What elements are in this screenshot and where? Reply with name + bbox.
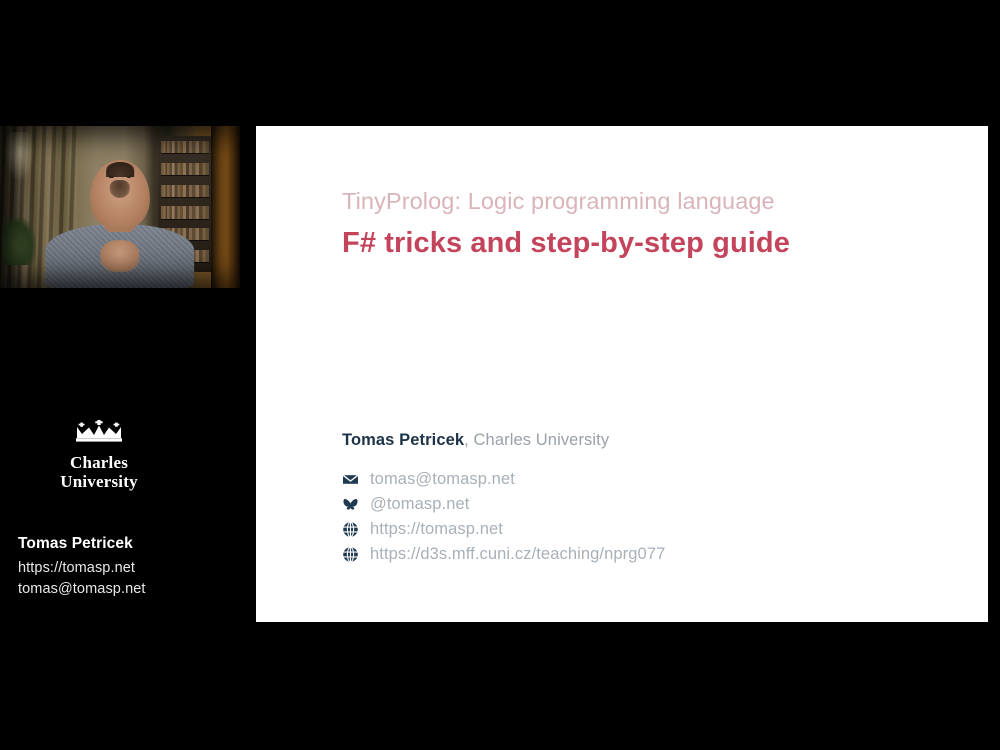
byline-separator: , bbox=[464, 431, 469, 449]
slide-headline: F# tricks and step-by-step guide bbox=[342, 225, 988, 261]
sidebar-presenter-email[interactable]: tomas@tomasp.net bbox=[18, 579, 222, 600]
sidebar-presenter-name: Tomas Petricek bbox=[18, 535, 222, 553]
contact-website-text: https://tomasp.net bbox=[370, 520, 503, 539]
contact-bluesky-text: @tomasp.net bbox=[370, 495, 469, 514]
butterfly-icon bbox=[342, 496, 359, 513]
contact-website[interactable]: https://tomasp.net bbox=[342, 517, 988, 542]
byline-author: Tomas Petricek bbox=[342, 431, 464, 449]
slide-byline: Tomas Petricek, Charles University bbox=[342, 431, 988, 450]
globe-icon bbox=[342, 546, 359, 563]
charles-university-logo: Charles University bbox=[24, 420, 174, 491]
byline-affiliation: Charles University bbox=[474, 431, 610, 449]
presentation-slide: TinyProlog: Logic programming language F… bbox=[256, 126, 988, 622]
contact-bluesky[interactable]: @tomasp.net bbox=[342, 492, 988, 517]
sidebar-presenter-info: Tomas Petricek https://tomasp.net tomas@… bbox=[18, 535, 222, 600]
envelope-icon bbox=[342, 471, 359, 488]
logo-line-2: University bbox=[24, 472, 174, 491]
contact-course-page-text: https://d3s.mff.cuni.cz/teaching/nprg077 bbox=[370, 545, 665, 564]
slide-contact-list: tomas@tomasp.net @tomasp.net bbox=[342, 467, 988, 567]
slide-kicker: TinyProlog: Logic programming language bbox=[342, 186, 988, 216]
logo-line-1: Charles bbox=[24, 453, 174, 472]
video-player-stage: Charles University Tomas Petricek https:… bbox=[0, 0, 1000, 750]
sidebar-branding: Charles University Tomas Petricek https:… bbox=[0, 420, 240, 600]
slide-content: TinyProlog: Logic programming language F… bbox=[256, 126, 988, 567]
contact-course-page[interactable]: https://d3s.mff.cuni.cz/teaching/nprg077 bbox=[342, 542, 988, 567]
crown-icon bbox=[24, 420, 174, 447]
globe-icon bbox=[342, 521, 359, 538]
webcam-scene bbox=[0, 126, 240, 288]
presenter-webcam-feed bbox=[0, 126, 240, 288]
contact-email[interactable]: tomas@tomasp.net bbox=[342, 467, 988, 492]
webcam-vignette bbox=[0, 126, 240, 288]
contact-email-text: tomas@tomasp.net bbox=[370, 470, 515, 489]
sidebar-presenter-website[interactable]: https://tomasp.net bbox=[18, 558, 222, 579]
